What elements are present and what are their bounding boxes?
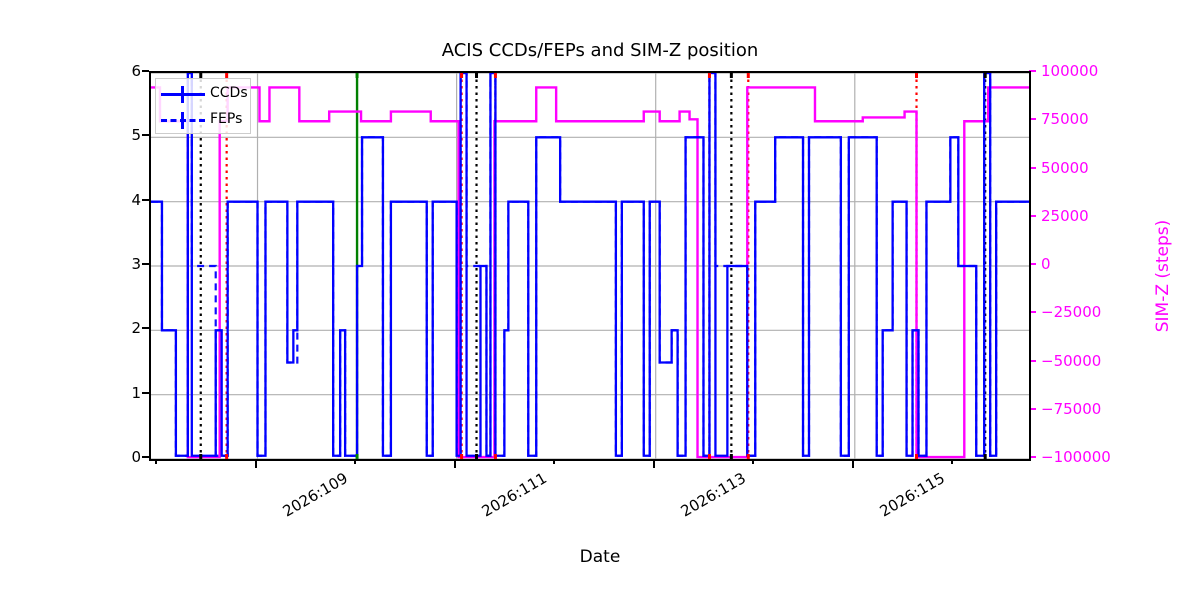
legend-plus-marker-icon-2 (181, 112, 184, 129)
y-tick-label-left: 3 (101, 255, 141, 273)
x-tick-label: 2026:115 (876, 469, 947, 521)
plot-svg (151, 73, 1029, 459)
y-tick-mark-left (142, 70, 149, 72)
y-tick-label-left: 5 (101, 126, 141, 144)
figure-canvas: ACIS CCDs/FEPs and SIM-Z position CCD/FE… (0, 0, 1200, 600)
y-tick-mark-left (142, 392, 149, 394)
y-tick-mark-left (142, 456, 149, 458)
legend-plus-marker-icon (181, 86, 184, 103)
y-tick-label-right: −75000 (1041, 400, 1161, 418)
legend-label-feps: FEPs (210, 111, 242, 127)
y-tick-label-left: 0 (101, 448, 141, 466)
chart-legend: CCDs FEPs (155, 78, 251, 134)
y-tick-label-right: −25000 (1041, 303, 1161, 321)
y-tick-label-right: 75000 (1041, 110, 1161, 128)
x-tick-label: 2026:113 (677, 469, 748, 521)
y-tick-label-right: 0 (1041, 255, 1161, 273)
y-tick-mark-left (142, 199, 149, 201)
y-tick-mark-left (142, 134, 149, 136)
x-tick-label: 2026:111 (478, 469, 549, 521)
x-tick-label: 2026:109 (279, 469, 350, 521)
chart-title: ACIS CCDs/FEPs and SIM-Z position (0, 40, 1200, 61)
y-tick-mark-left (142, 327, 149, 329)
x-axis-label: Date (0, 547, 1200, 567)
series-sim-z (151, 87, 1029, 457)
y-tick-label-right: −50000 (1041, 352, 1161, 370)
y-tick-label-left: 6 (101, 62, 141, 80)
series-ccds (151, 73, 1029, 456)
legend-item-ccds: CCDs (156, 81, 252, 107)
y-tick-label-left: 1 (101, 384, 141, 402)
plot-area (149, 71, 1031, 461)
series-feps (151, 73, 1029, 456)
y-tick-label-right: 50000 (1041, 159, 1161, 177)
legend-item-feps: FEPs (156, 107, 252, 133)
y-tick-mark-left (142, 263, 149, 265)
y-tick-label-right: −100000 (1041, 448, 1161, 466)
y-tick-label-right: 100000 (1041, 62, 1161, 80)
y-tick-label-left: 2 (101, 319, 141, 337)
y-tick-label-left: 4 (101, 191, 141, 209)
legend-label-ccds: CCDs (210, 85, 248, 101)
y-tick-label-right: 25000 (1041, 207, 1161, 225)
